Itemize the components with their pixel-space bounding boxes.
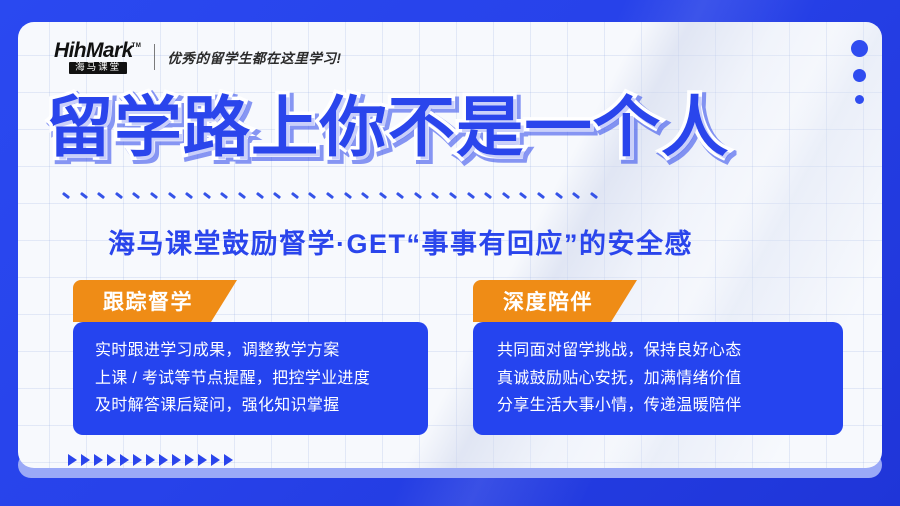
- dot-small-icon: [855, 95, 864, 104]
- triangle-right-icon: [107, 454, 116, 466]
- triangle-right-icon: [172, 454, 181, 466]
- triangle-right-icon: [198, 454, 207, 466]
- triangle-right-icon: [146, 454, 155, 466]
- card-line: 真诚鼓励贴心安抚，加满情绪价值: [497, 366, 825, 392]
- dot-large-icon: [851, 40, 868, 57]
- triangle-right-icon: [211, 454, 220, 466]
- triangle-right-icon: [159, 454, 168, 466]
- brand-tagline: 优秀的留学生都在这里学习!: [167, 47, 341, 67]
- triangle-right-icon: [185, 454, 194, 466]
- triangle-right-icon: [224, 454, 233, 466]
- card-tab-label: 深度陪伴: [503, 286, 593, 316]
- card-line: 及时解答课后疑问，强化知识掌握: [95, 393, 410, 419]
- content-panel: HihMark TM 海马课堂 优秀的留学生都在这里学习! 留学路上你不是一个人…: [18, 22, 882, 468]
- card-tab-companionship: 深度陪伴: [473, 280, 637, 322]
- card-line: 实时跟进学习成果，调整教学方案: [95, 338, 410, 364]
- dot-medium-icon: [853, 69, 866, 82]
- dashed-divider: [62, 194, 598, 197]
- card-tab-label: 跟踪督学: [103, 286, 193, 316]
- trademark-icon: TM: [132, 43, 142, 49]
- card-line: 分享生活大事小情，传递温暖陪伴: [497, 393, 825, 419]
- highmark-logo: HihMark TM 海马课堂: [54, 40, 142, 74]
- triangle-right-icon: [81, 454, 90, 466]
- arrow-decoration-row: [68, 454, 233, 466]
- card-body-tracking: 实时跟进学习成果，调整教学方案 上课 / 考试等节点提醒，把控学业进度 及时解答…: [73, 322, 428, 435]
- dot-decoration-group: [836, 40, 882, 104]
- page-subtitle: 海马课堂鼓励督学·GET“事事有回应”的安全感: [108, 222, 693, 261]
- logo-chinese-name: 海马课堂: [69, 62, 127, 74]
- card-body-companionship: 共同面对留学挑战，保持良好心态 真诚鼓励贴心安抚，加满情绪价值 分享生活大事小情…: [473, 322, 843, 435]
- card-tab-tracking: 跟踪督学: [73, 280, 237, 322]
- triangle-right-icon: [94, 454, 103, 466]
- brand-header: HihMark TM 海马课堂 优秀的留学生都在这里学习!: [54, 40, 342, 74]
- promo-banner: HihMark TM 海马课堂 优秀的留学生都在这里学习! 留学路上你不是一个人…: [0, 0, 900, 506]
- page-title: 留学路上你不是一个人: [46, 94, 872, 160]
- triangle-right-icon: [120, 454, 129, 466]
- feature-card-companionship: 深度陪伴 共同面对留学挑战，保持良好心态 真诚鼓励贴心安抚，加满情绪价值 分享生…: [473, 322, 843, 435]
- header-divider: [154, 44, 155, 70]
- logo-wordmark-text: HihMark: [54, 40, 133, 61]
- card-line: 共同面对留学挑战，保持良好心态: [497, 338, 825, 364]
- feature-card-tracking: 跟踪督学 实时跟进学习成果，调整教学方案 上课 / 考试等节点提醒，把控学业进度…: [73, 322, 428, 435]
- logo-wordmark-row: HihMark TM: [54, 40, 142, 61]
- triangle-right-icon: [133, 454, 142, 466]
- card-line: 上课 / 考试等节点提醒，把控学业进度: [95, 366, 410, 392]
- triangle-right-icon: [68, 454, 77, 466]
